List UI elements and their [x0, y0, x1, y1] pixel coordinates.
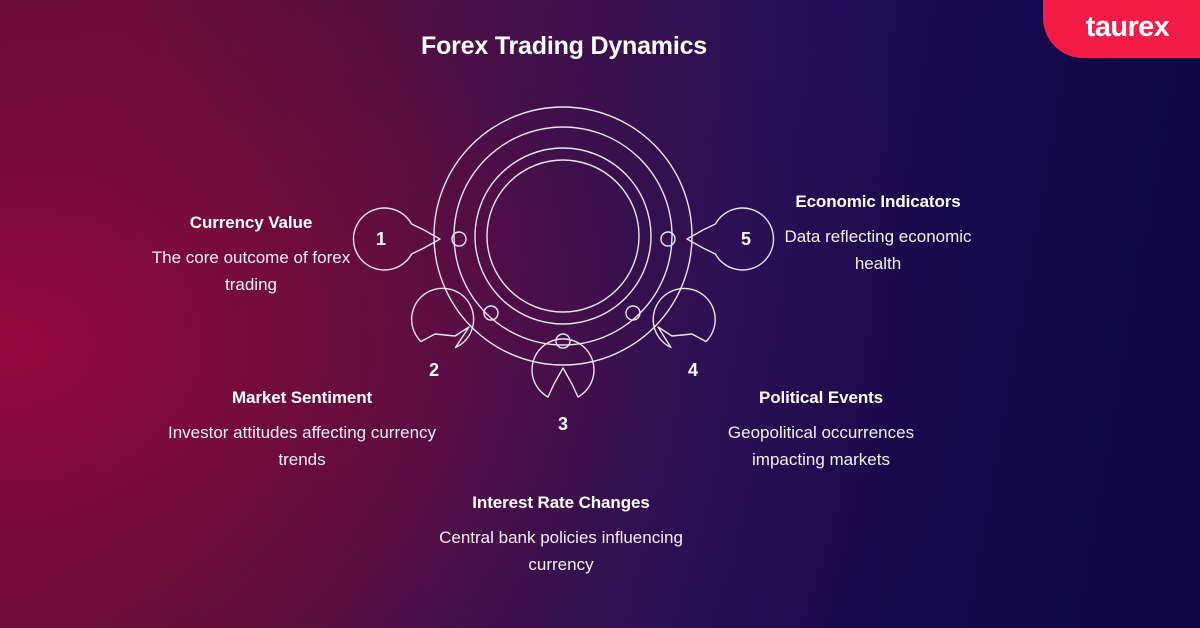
item-block-market-sentiment: Market Sentiment Investor attitudes affe…	[166, 385, 438, 473]
infographic-canvas: taurex Forex Trading Dynamics	[0, 0, 1200, 628]
callout-teardrop-5	[687, 208, 774, 270]
ring-inner	[487, 160, 639, 312]
item-block-economic-indicators: Economic Indicators Data reflecting econ…	[780, 189, 976, 277]
ring-node-3	[556, 334, 570, 348]
item-heading-3: Interest Rate Changes	[434, 490, 688, 516]
item-block-interest-rate-changes: Interest Rate Changes Central bank polic…	[434, 490, 688, 578]
ring-third	[475, 148, 651, 324]
callout-teardrop-1	[353, 208, 440, 270]
ring-node-5	[661, 232, 675, 246]
ring-node-4	[626, 306, 640, 320]
item-heading-4: Political Events	[690, 385, 952, 411]
item-heading-2: Market Sentiment	[166, 385, 438, 411]
item-block-political-events: Political Events Geopolitical occurrence…	[690, 385, 952, 473]
item-description-5: Data reflecting economic health	[780, 224, 976, 277]
item-description-2: Investor attitudes affecting currency tr…	[166, 420, 438, 473]
callout-teardrop-2	[412, 288, 474, 347]
item-heading-1: Currency Value	[138, 210, 364, 236]
item-block-currency-value: Currency Value The core outcome of forex…	[138, 210, 364, 298]
item-description-1: The core outcome of forex trading	[138, 245, 364, 298]
item-heading-5: Economic Indicators	[780, 189, 976, 215]
item-description-3: Central bank policies influencing curren…	[434, 525, 688, 578]
item-description-4: Geopolitical occurrences impacting marke…	[690, 420, 952, 473]
